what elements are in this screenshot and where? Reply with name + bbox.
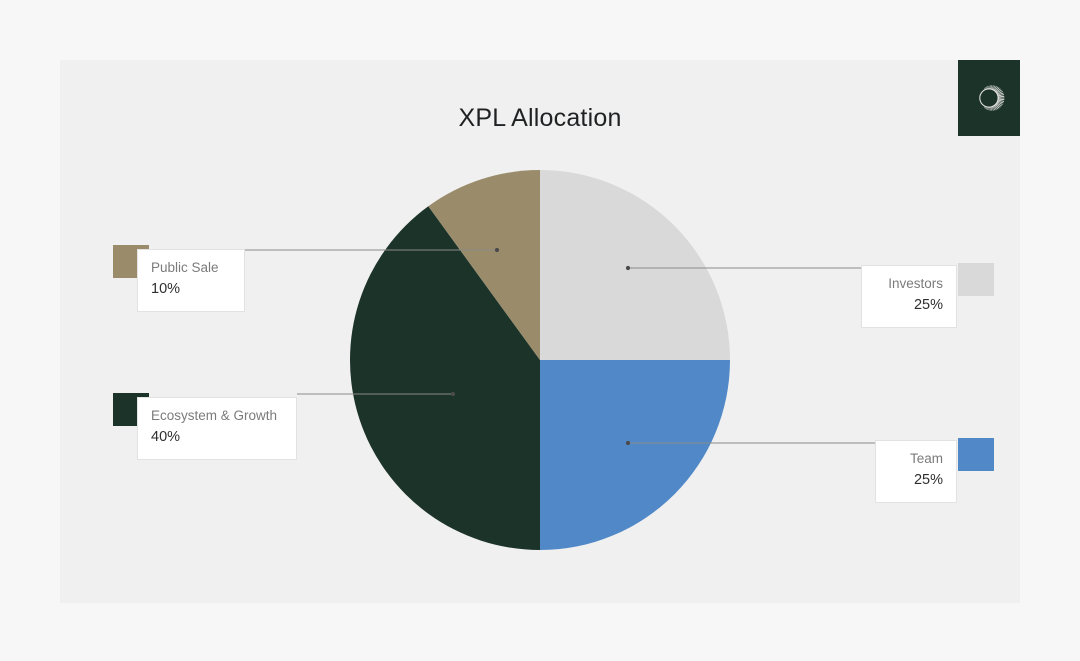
pie-slice-team[interactable] <box>540 360 730 550</box>
callout-value-ecosystem-growth: 40% <box>151 428 283 448</box>
legend-swatch-team <box>958 438 994 471</box>
callout-name-public-sale: Public Sale <box>151 259 231 277</box>
callout-label-public-sale[interactable]: Public Sale 10% <box>137 249 245 312</box>
callout-label-team[interactable]: Team 25% <box>875 440 957 503</box>
callout-label-investors[interactable]: Investors 25% <box>861 265 957 328</box>
pie-chart-svg <box>60 60 1020 603</box>
callout-label-ecosystem-growth[interactable]: Ecosystem & Growth 40% <box>137 397 297 460</box>
screenshot-root: XPL Allocation Public Sale 10% Ecosystem… <box>0 0 1080 661</box>
callout-value-team: 25% <box>889 471 943 491</box>
leader-line-dot <box>495 248 499 252</box>
legend-swatch-investors <box>958 263 994 296</box>
callout-name-investors: Investors <box>875 275 943 293</box>
chart-panel: XPL Allocation Public Sale 10% Ecosystem… <box>60 60 1020 603</box>
callout-value-investors: 25% <box>875 296 943 316</box>
pie-slices <box>350 170 730 550</box>
leader-line-dot <box>626 441 630 445</box>
pie-slice-investors[interactable] <box>540 170 730 360</box>
leader-line-dot <box>626 266 630 270</box>
leader-line-dot <box>451 392 455 396</box>
callout-name-ecosystem-growth: Ecosystem & Growth <box>151 407 283 425</box>
callout-name-team: Team <box>889 450 943 468</box>
callout-value-public-sale: 10% <box>151 280 231 300</box>
